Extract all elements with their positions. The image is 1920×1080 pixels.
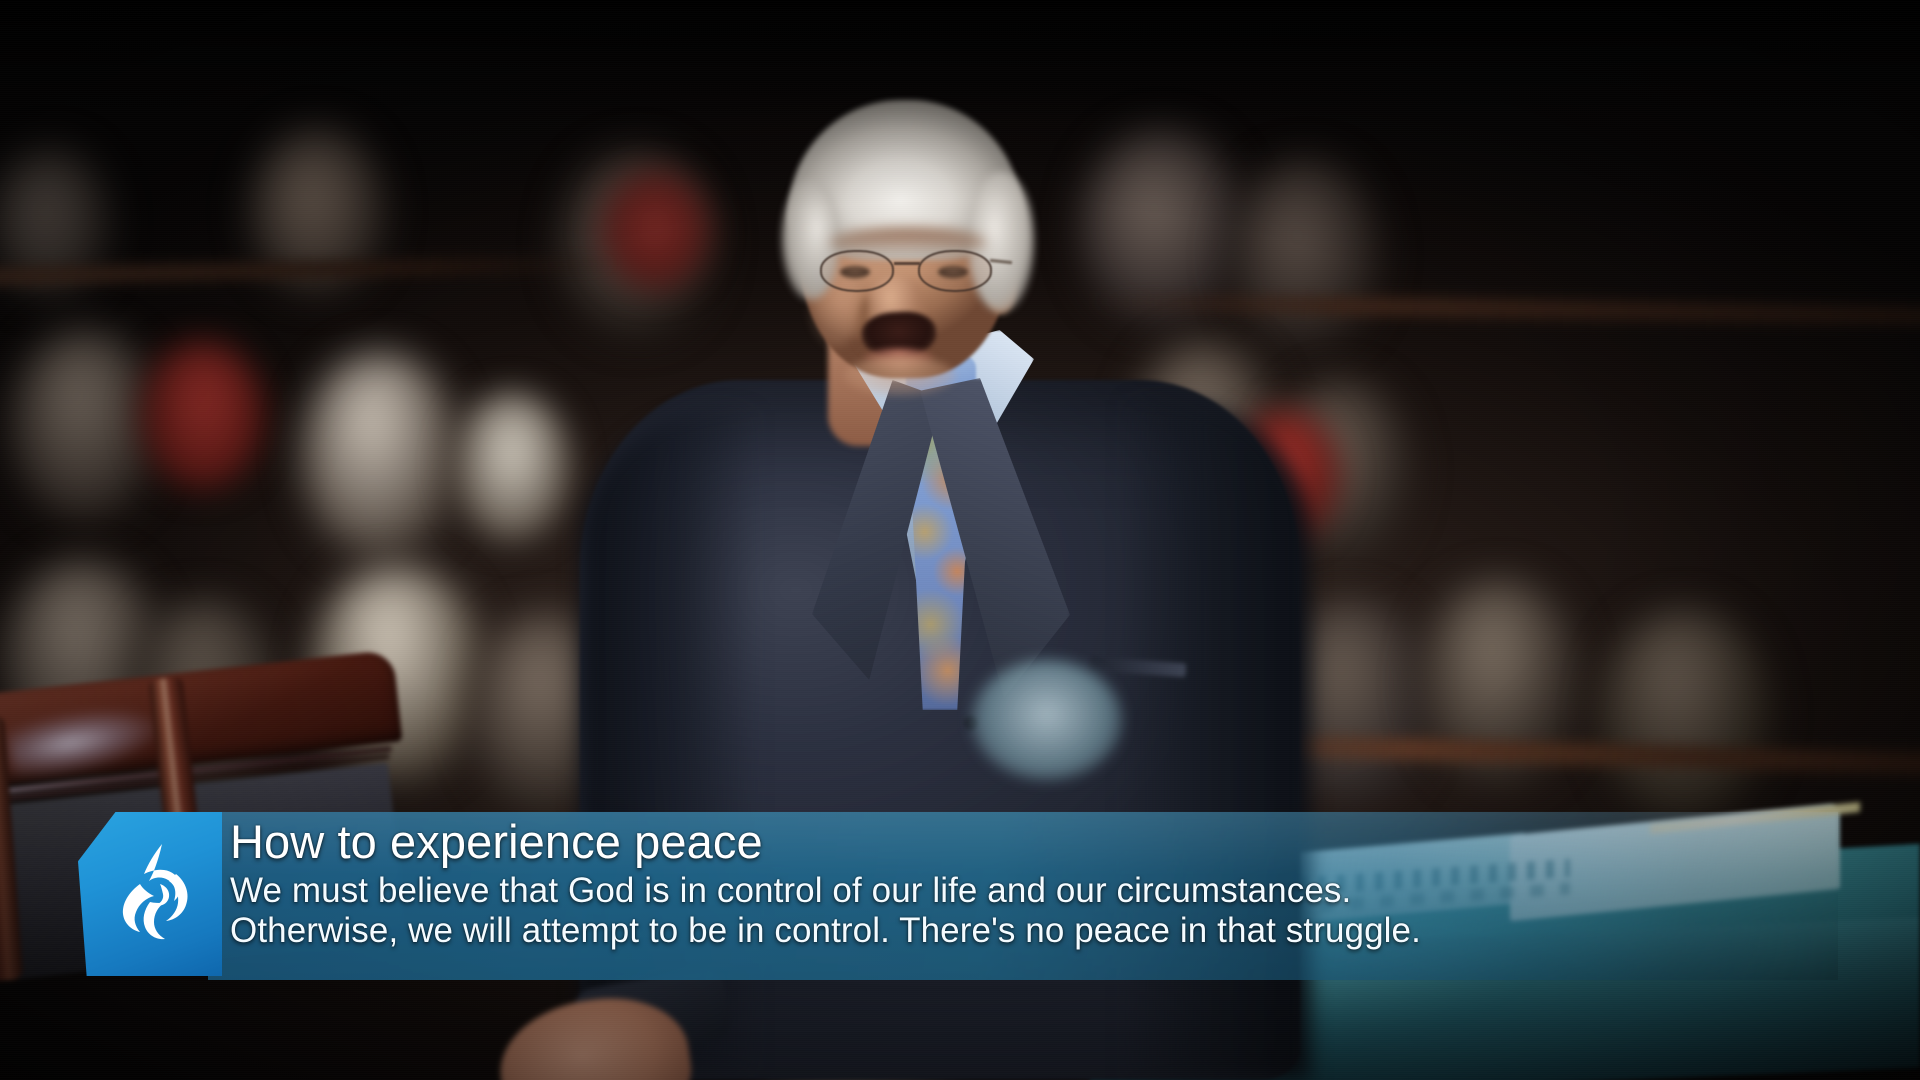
lower-third-caption: How to experience peace We must believe … <box>78 812 1838 980</box>
audience-member <box>300 352 460 557</box>
caption-text-block: How to experience peace We must believe … <box>230 814 1838 980</box>
eyeglasses-icon <box>814 246 1000 298</box>
audience-member <box>1600 610 1770 820</box>
caption-title: How to experience peace <box>230 814 1838 870</box>
audience-member <box>140 340 265 490</box>
speaker-head <box>792 100 1020 382</box>
intouch-flame-dove-logo-icon <box>104 838 208 950</box>
audience-member <box>452 392 572 542</box>
brand-logo-badge <box>78 812 222 976</box>
video-player-frame: How to experience peace We must believe … <box>0 0 1920 1080</box>
audience-member <box>10 330 160 520</box>
caption-line-2: Otherwise, we will attempt to be in cont… <box>230 910 1838 952</box>
caption-line-1: We must believe that God is in control o… <box>230 870 1838 912</box>
speaker-right-hand <box>972 660 1122 780</box>
